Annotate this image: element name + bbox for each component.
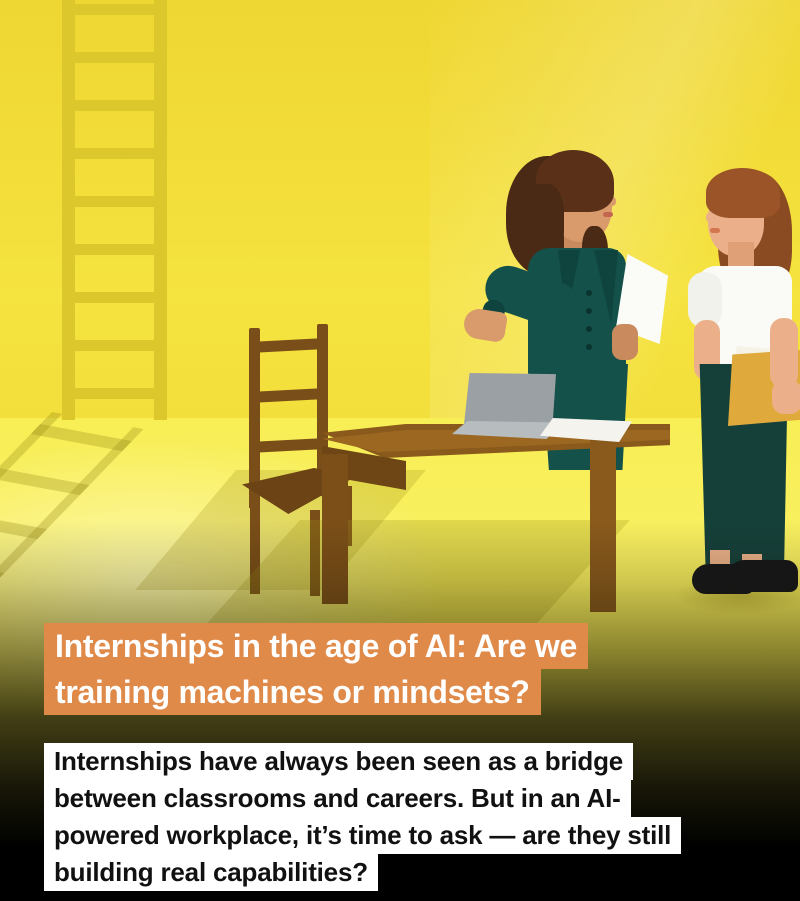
body-copy-line: building real capabilities? [44, 854, 378, 891]
body-copy: Internships have always been seen as a b… [44, 743, 681, 891]
text-overlay: Internships in the age of AI: Are we tra… [0, 0, 800, 901]
social-post-card: Internships in the age of AI: Are we tra… [0, 0, 800, 901]
body-copy-line: powered workplace, it’s time to ask — ar… [44, 817, 681, 854]
headline: Internships in the age of AI: Are we tra… [44, 623, 588, 715]
headline-line: Internships in the age of AI: Are we [44, 623, 588, 669]
body-copy-line: Internships have always been seen as a b… [44, 743, 633, 780]
body-copy-line: between classrooms and careers. But in a… [44, 780, 631, 817]
headline-line: training machines or mindsets? [44, 669, 541, 715]
